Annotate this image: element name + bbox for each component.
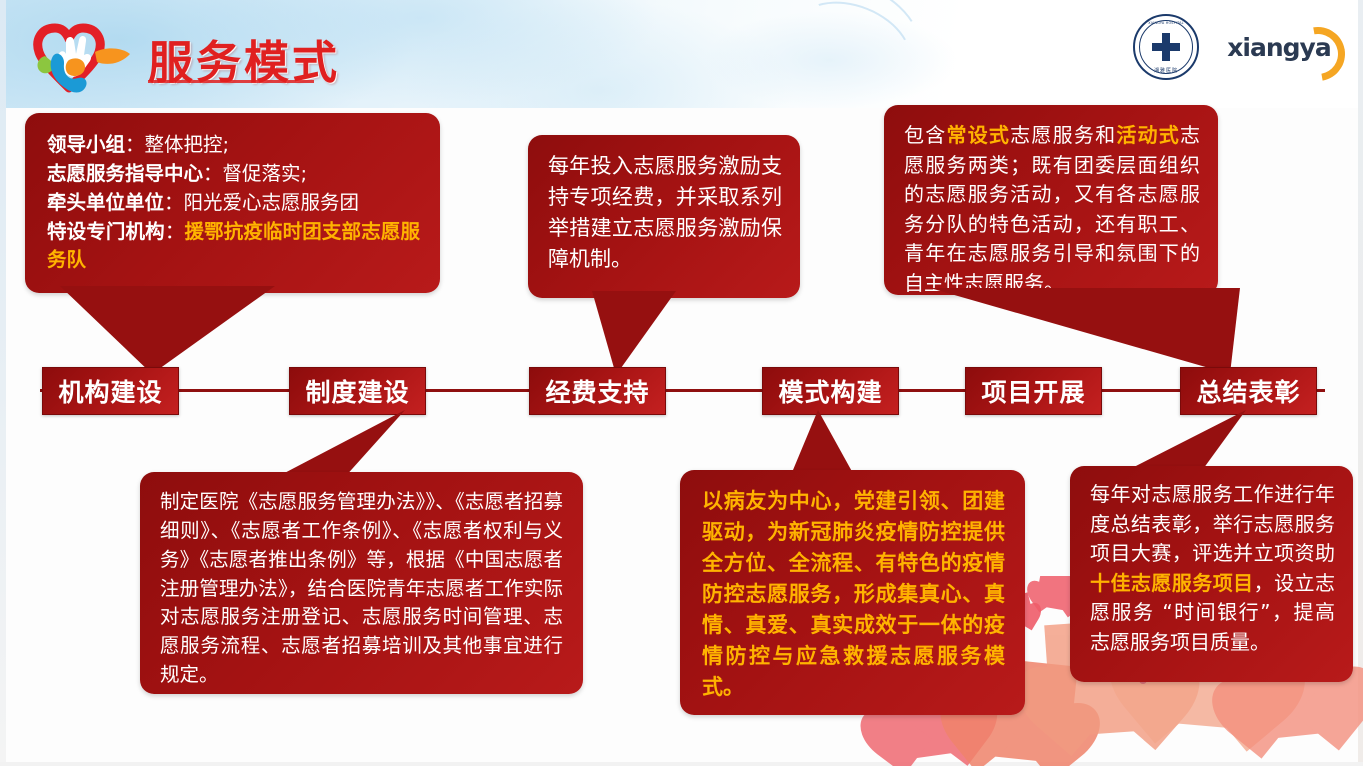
callout-system: 制定医院《志愿服务管理办法》》、《志愿者招募细则》、《志愿者工作条例》、《志愿者…	[140, 472, 583, 694]
callout-project-hl2: 活动式	[1116, 123, 1180, 147]
callout-organization-line-2: 志愿服务指导中心：督促落实;	[47, 160, 420, 189]
callout-organization-line-1: 领导小组：整体把控;	[47, 131, 420, 160]
callout-system-text: 制定医院《志愿服务管理办法》》、《志愿者招募细则》、《志愿者工作条例》、《志愿者…	[160, 490, 563, 686]
callout-summary: 每年对志愿服务工作进行年度总结表彰，举行志愿服务项目大赛，评选并立项资助十佳志愿…	[1070, 466, 1353, 682]
stage-label-1: 机构建设	[58, 373, 162, 409]
slide-canvas: 服务模式 XIANGYA HOSPITAL 湘雅医院 xiangya 领导小组：…	[0, 0, 1363, 766]
stage-label-5: 项目开展	[981, 373, 1085, 409]
stage-label-3: 经费支持	[545, 373, 649, 409]
callout-summary-pre: 每年对志愿服务工作进行年度总结表彰，举行志愿服务项目大赛，评选并立项资助	[1090, 482, 1335, 565]
callout-project-pre: 包含	[904, 123, 946, 147]
callout-funding-tail	[592, 291, 682, 377]
callout-funding: 每年投入志愿服务激励支持专项经费，并采取系列举措建立志愿服务激励保障机制。	[528, 135, 800, 298]
stage-box-6[interactable]: 总结表彰	[1180, 367, 1317, 415]
volunteer-heart-hand-logo	[33, 22, 138, 100]
callout-project-post: 志愿服务两类；既有团委层面组织的志愿服务活动，又有各志愿服务分队的特色活动，还有…	[904, 123, 1200, 295]
timeline-axis	[40, 389, 1325, 392]
callout-funding-text: 每年投入志愿服务激励支持专项经费，并采取系列举措建立志愿服务激励保障机制。	[548, 154, 782, 271]
slide-edge-left	[0, 0, 6, 766]
hospital-seal-icon: XIANGYA HOSPITAL 湘雅医院	[1133, 14, 1199, 80]
page-title-underline	[148, 80, 314, 83]
callout-model-text: 以病友为中心，党建引领、团建驱动，为新冠肺炎疫情防控提供全方位、全流程、有特色的…	[702, 489, 1005, 699]
stage-box-4[interactable]: 模式构建	[762, 367, 899, 415]
stage-box-1[interactable]: 机构建设	[42, 367, 179, 415]
stage-label-6: 总结表彰	[1196, 373, 1300, 409]
callout-project-mid: 志愿服务和	[1010, 123, 1116, 147]
stage-label-4: 模式构建	[778, 373, 882, 409]
callout-organization-tail	[60, 286, 290, 378]
hospital-seal-label: 湘雅医院	[1135, 67, 1197, 74]
callout-summary-hl: 十佳志愿服务项目	[1090, 571, 1254, 595]
stage-label-2: 制度建设	[305, 373, 409, 409]
stage-box-5[interactable]: 项目开展	[965, 367, 1102, 415]
callout-organization-line-3: 牵头单位单位：阳光爱心志愿服务团	[47, 189, 420, 218]
xiangya-wordmark-logo: xiangya	[1205, 19, 1353, 75]
brand-logos: XIANGYA HOSPITAL 湘雅医院 xiangya	[1133, 16, 1353, 78]
callout-project-hl1: 常设式	[946, 123, 1010, 147]
stage-box-3[interactable]: 经费支持	[529, 367, 666, 415]
callout-organization: 领导小组：整体把控; 志愿服务指导中心：督促落实; 牵头单位单位：阳光爱心志愿服…	[25, 113, 440, 293]
stage-box-2[interactable]: 制度建设	[289, 367, 426, 415]
callout-project-types-tail	[930, 288, 1260, 378]
callout-model: 以病友为中心，党建引领、团建驱动，为新冠肺炎疫情防控提供全方位、全流程、有特色的…	[680, 470, 1025, 715]
callout-project-types: 包含常设式志愿服务和活动式志愿服务两类；既有团委层面组织的志愿服务活动，又有各志…	[884, 105, 1218, 295]
callout-organization-line-4: 特设专门机构：援鄂抗疫临时团支部志愿服务队	[47, 218, 420, 276]
